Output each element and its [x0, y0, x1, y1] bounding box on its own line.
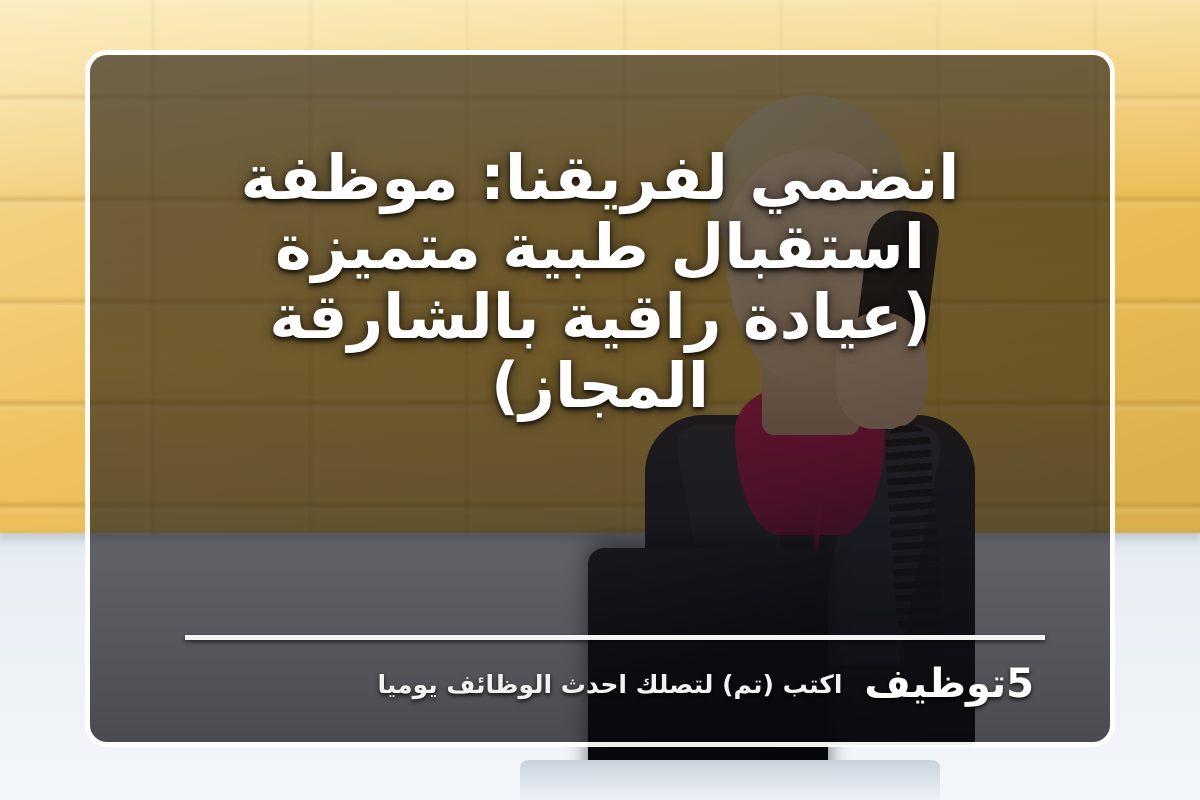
headline-text: انضمي لفريقنا: موظفة استقبال طبية متميزة… — [130, 143, 1070, 421]
laptop-base — [520, 760, 940, 800]
banner-canvas: انضمي لفريقنا: موظفة استقبال طبية متميزة… — [0, 0, 1200, 800]
brand-label: 5توظيف — [864, 661, 1034, 707]
footer-bar: 5توظيف اكتب (تم) لتصلك احدث الوظائف يومي… — [130, 653, 1070, 715]
footer-tagline: اكتب (تم) لتصلك احدث الوظائف يوميا — [378, 670, 843, 699]
divider-rule — [185, 635, 1045, 640]
poster-frame: انضمي لفريقنا: موظفة استقبال طبية متميزة… — [85, 50, 1115, 747]
